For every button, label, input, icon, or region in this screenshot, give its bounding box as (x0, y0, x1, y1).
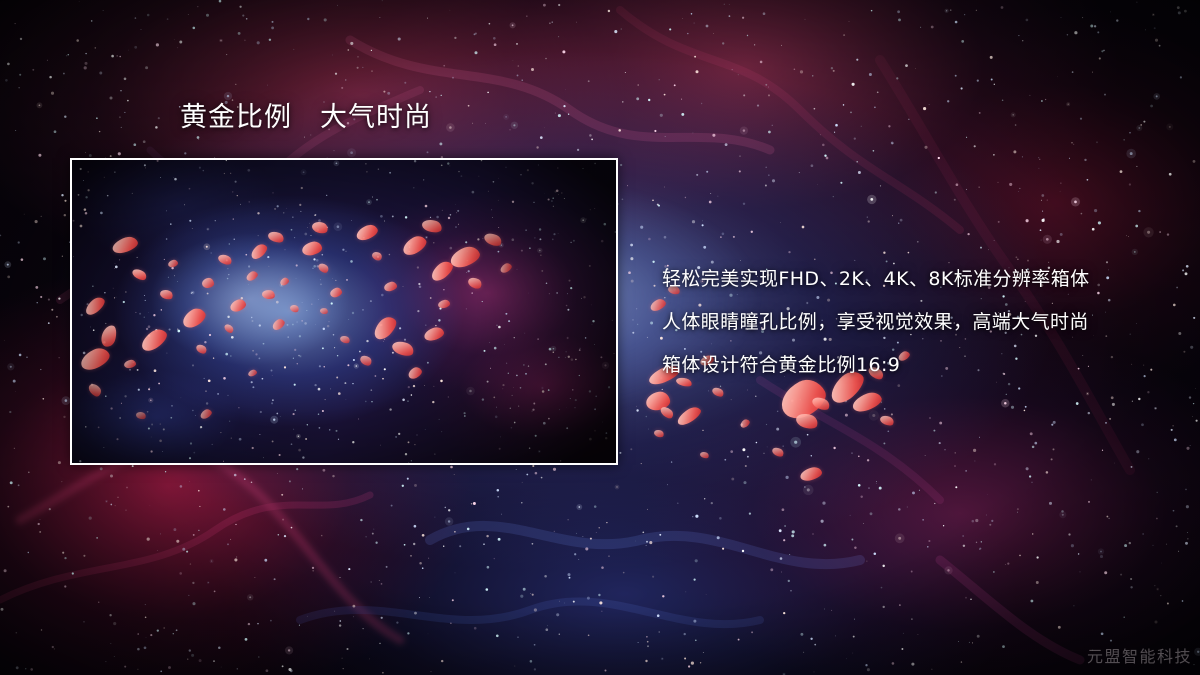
body-line-2: 人体眼睛瞳孔比例，享受视觉效果，高端大气时尚 (662, 301, 1172, 344)
petal (811, 395, 832, 413)
body-line-1: 轻松完美实现FHD、2K、4K、8K标准分辨率箱体 (662, 258, 1172, 301)
framed-image-content (72, 160, 616, 463)
petal (711, 386, 725, 399)
petal (739, 418, 751, 429)
petal (675, 404, 703, 428)
petal (879, 414, 895, 428)
petal (659, 405, 676, 421)
presentation-slide: 黄金比例 大气时尚 轻松完美实现FHD、2K、4K、8K标准分辨率箱体 人体眼睛… (0, 0, 1200, 675)
framed-image (70, 158, 618, 465)
framed-vignette (72, 160, 616, 463)
petal (699, 451, 710, 460)
petal (794, 411, 819, 431)
petal (771, 446, 785, 459)
page-title: 黄金比例 大气时尚 (180, 101, 432, 135)
petal (799, 465, 823, 482)
body-text-block: 轻松完美实现FHD、2K、4K、8K标准分辨率箱体 人体眼睛瞳孔比例，享受视觉效… (662, 258, 1172, 387)
body-line-3: 箱体设计符合黄金比例16:9 (662, 344, 1172, 387)
petal (850, 389, 884, 414)
petal (653, 429, 665, 439)
watermark: 元盟智能科技 (1087, 643, 1192, 667)
petal (645, 390, 672, 412)
